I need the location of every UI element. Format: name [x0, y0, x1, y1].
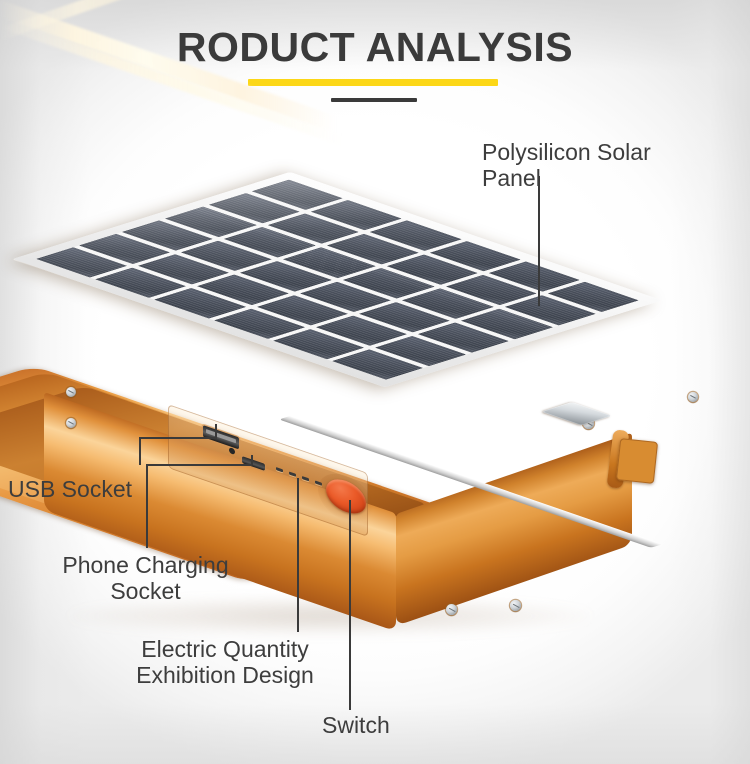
- callout-label-polysilicon-solar-panel: Polysilicon Solar Panel: [482, 139, 697, 191]
- infographic-canvas: RODUCT ANALYSIS: [0, 0, 750, 764]
- solar-cell-grid: [36, 180, 639, 380]
- leader-line-usb-socket-drop: [139, 437, 141, 465]
- housing-highlight-band-left-lower: [0, 17, 344, 147]
- leader-line-electric-quantity-exhibition-design: [297, 478, 299, 632]
- leader-line-phone-charging-socket-horizontal: [146, 464, 252, 466]
- solar-panel-assembly: [172, 166, 642, 510]
- solar-panel-frame: [13, 172, 662, 387]
- leader-line-usb-socket-horizontal: [139, 437, 217, 439]
- callout-label-electric-quantity: Electric Quantity Exhibition Design: [110, 636, 340, 688]
- callout-label-phone-charging-socket: Phone Charging Socket: [38, 552, 253, 604]
- leader-line-usb-socket-vertical: [215, 424, 217, 438]
- screw: [510, 600, 521, 611]
- screw: [66, 418, 76, 428]
- callout-label-switch: Switch: [322, 712, 390, 738]
- callout-label-usb-socket: USB Socket: [8, 476, 132, 502]
- leader-line-phone-charging-socket-vertical: [251, 455, 253, 465]
- leader-line-switch: [349, 500, 351, 710]
- screw: [446, 604, 457, 615]
- screw: [66, 387, 76, 397]
- leader-line-polysilicon-solar-panel: [538, 176, 540, 306]
- leader-line-phone-charging-socket-drop: [146, 464, 148, 548]
- screw: [688, 392, 698, 402]
